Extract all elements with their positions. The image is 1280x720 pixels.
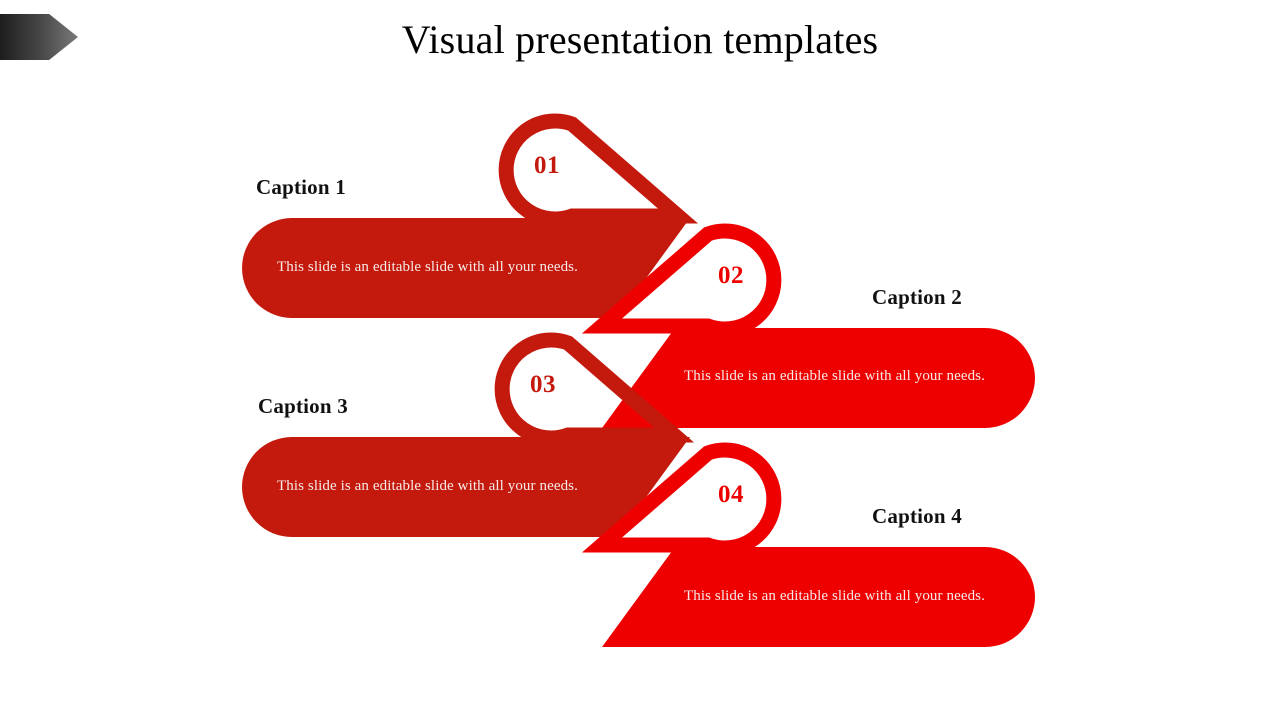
step-1-number: 01	[534, 152, 560, 180]
step-1-number-teardrop-icon[interactable]	[506, 121, 678, 219]
step-1-body-text: This slide is an editable slide with all…	[277, 259, 578, 276]
step-2-body-text: This slide is an editable slide with all…	[684, 368, 985, 385]
step-4-caption: Caption 4	[872, 504, 962, 529]
step-4-group[interactable]	[602, 450, 1035, 647]
step-1-caption: Caption 1	[256, 175, 346, 200]
step-3-number: 03	[530, 371, 556, 399]
step-2-number: 02	[718, 262, 744, 290]
step-4-body-text: This slide is an editable slide with all…	[684, 588, 985, 605]
step-2-group[interactable]	[602, 231, 1035, 428]
presentation-slide: Visual presentation templates Caption 1 …	[0, 0, 1280, 720]
step-2-caption: Caption 2	[872, 285, 962, 310]
step-1-group[interactable]	[242, 121, 690, 318]
step-4-number: 04	[718, 481, 744, 509]
step-3-body-text: This slide is an editable slide with all…	[277, 478, 578, 495]
step-3-caption: Caption 3	[258, 394, 348, 419]
process-diagram	[0, 0, 1280, 720]
step-3-group[interactable]	[242, 340, 690, 537]
